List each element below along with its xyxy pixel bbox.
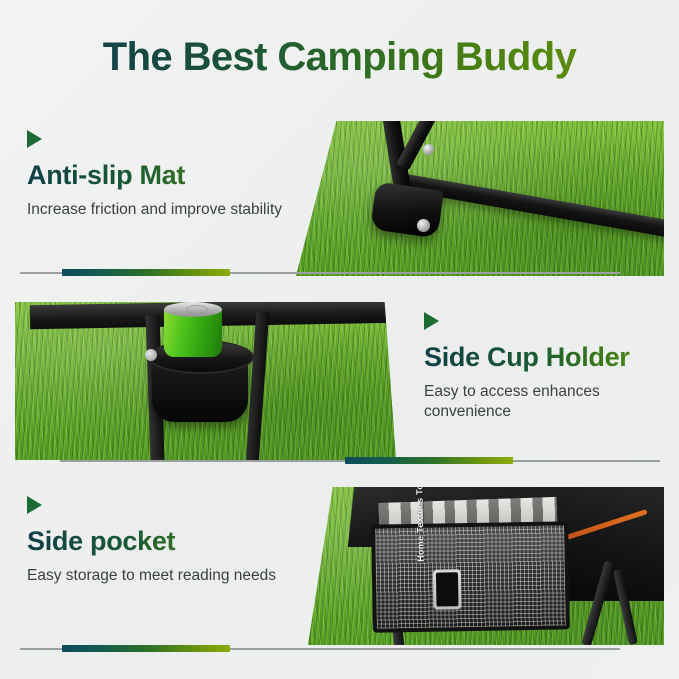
triangle-right-icon xyxy=(27,496,42,514)
feature-title: Anti-slip Mat xyxy=(27,158,282,192)
smartphone-in-pocket xyxy=(433,569,462,609)
cup-holder-clip-icon xyxy=(145,349,157,361)
mesh-side-pocket: Home Textiles Today xyxy=(371,522,570,633)
divider-gradient-bar xyxy=(62,269,230,276)
triangle-right-icon xyxy=(27,130,42,148)
magazine-spine-text: Home Textiles Today xyxy=(414,487,426,562)
feature-title: Side Cup Holder xyxy=(424,340,679,374)
feature-block-side-cup-holder: Side Cup Holder Easy to access enhances … xyxy=(424,312,679,422)
feature-title: Side pocket xyxy=(27,524,276,558)
page-title: The Best Camping Buddy xyxy=(0,32,679,82)
feature-block-anti-slip-mat: Anti-slip Mat Increase friction and impr… xyxy=(27,130,282,220)
section-divider xyxy=(20,268,620,278)
triangle-right-icon xyxy=(424,312,439,330)
section-divider xyxy=(20,644,620,654)
feature-image-side-cup-holder xyxy=(15,302,396,460)
feature-description: Easy storage to meet reading needs xyxy=(27,566,276,586)
section-divider xyxy=(60,456,660,466)
divider-gradient-bar xyxy=(345,457,513,464)
phone-screen xyxy=(436,572,459,606)
feature-block-side-pocket: Side pocket Easy storage to meet reading… xyxy=(27,496,276,586)
feature-image-anti-slip-mat xyxy=(296,121,664,276)
anti-slip-foot xyxy=(370,182,444,239)
divider-gradient-bar xyxy=(62,645,230,652)
feature-description: Easy to access enhances convenience xyxy=(424,382,679,422)
feature-description: Increase friction and improve stability xyxy=(27,200,282,220)
infographic-page: The Best Camping Buddy Anti-slip Mat Inc… xyxy=(0,0,679,679)
feature-image-side-pocket: Home Textiles Today xyxy=(308,487,664,645)
